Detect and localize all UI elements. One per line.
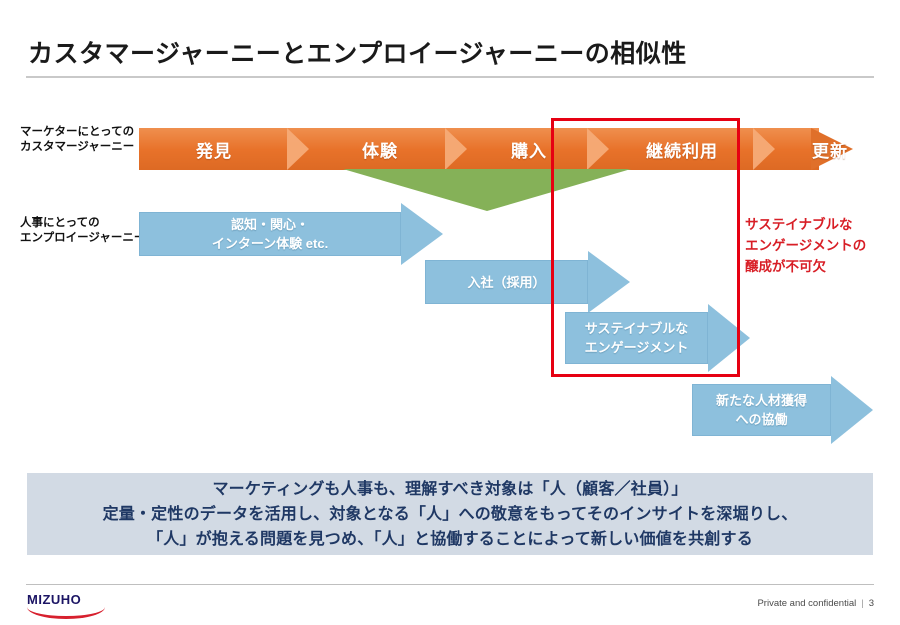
journey-stage-discover[interactable]: 発見 (149, 128, 279, 170)
highlight-rectangle (551, 118, 740, 377)
row-label-marketer: マーケターにとっての カスタマージャーニー (20, 125, 134, 155)
title-divider (26, 76, 874, 78)
arrow-head-icon-1 (401, 203, 443, 265)
page-title: カスタマージャーニーとエンプロイージャーニーの相似性 (28, 34, 687, 70)
new-talent-arrow-line1: 新たな人材獲得 (716, 391, 807, 410)
mizuho-logo-text: MIZUHO (27, 592, 81, 607)
slide-canvas: カスタマージャーニーとエンプロイージャーニーの相似性 マーケターにとっての カス… (0, 0, 900, 625)
confidentiality-label: Private and confidential (757, 598, 856, 609)
awareness-arrow-line1: 認知・関心・ (231, 215, 309, 234)
customer-journey-bar: 発見 体験 購入 継続利用 更新 (139, 128, 853, 170)
callout-line1: サステイナブルな (745, 214, 866, 235)
summary-line-2: 定量・定性のデータを活用し、対象となる「人」への敬意をもってそのインサイトを深堀… (103, 502, 798, 527)
callout-line2: エンゲージメントの (745, 235, 866, 256)
summary-line-3: 「人」が抱える問題を見つめ、「人」と協働することによって新しい価値を共創する (147, 527, 753, 552)
row-label-marketer-line2: カスタマージャーニー (20, 140, 134, 155)
footer-divider (26, 584, 874, 585)
footer-separator: | (861, 598, 863, 609)
journey-stage-renewal[interactable]: 更新 (775, 128, 885, 170)
new-talent-arrow-line2: への協働 (735, 410, 787, 429)
callout-text: サステイナブルな エンゲージメントの 醸成が不可欠 (745, 214, 866, 277)
arrow-head-icon-4 (831, 376, 873, 444)
journey-stage-experience[interactable]: 体験 (315, 128, 445, 170)
mizuho-logo: MIZUHO (27, 592, 107, 616)
callout-line3: 醸成が不可欠 (745, 256, 866, 277)
mizuho-swoosh-icon (27, 607, 105, 619)
chevron-right-icon-2 (445, 128, 467, 170)
summary-line-1: マーケティングも人事も、理解すべき対象は「人（顧客／社員）」 (212, 477, 687, 502)
awareness-arrow-line2: インターン体験 etc. (212, 234, 328, 253)
row-label-hr: 人事にとっての エンプロイージャーニー (20, 216, 145, 246)
summary-message-box: マーケティングも人事も、理解すべき対象は「人（顧客／社員）」 定量・定性のデータ… (27, 473, 873, 555)
footer-meta: Private and confidential|3 (757, 598, 874, 609)
page-number: 3 (869, 598, 874, 609)
awareness-arrow[interactable]: 認知・関心・ インターン体験 etc. (139, 212, 443, 256)
row-label-marketer-line1: マーケターにとっての (20, 125, 134, 140)
joining-arrow-line1: 入社（採用） (467, 273, 545, 292)
chevron-right-icon-4 (753, 128, 775, 170)
new-talent-arrow[interactable]: 新たな人材獲得 への協働 (692, 384, 873, 436)
row-label-hr-line1: 人事にとっての (20, 216, 145, 231)
chevron-right-icon-1 (287, 128, 309, 170)
row-label-hr-line2: エンプロイージャーニー (20, 231, 145, 246)
